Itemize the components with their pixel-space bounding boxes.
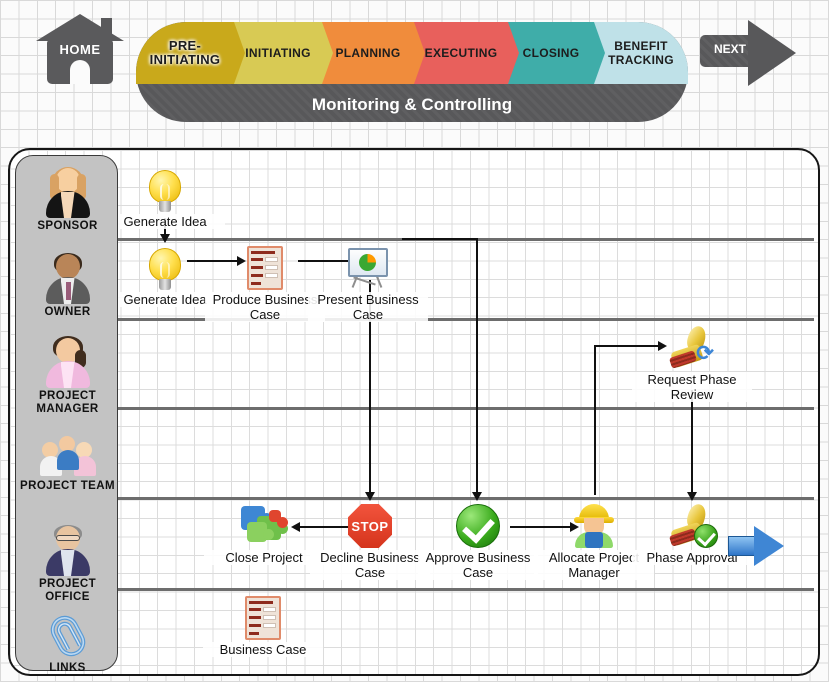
phase-tab-initiating[interactable]: INITIATING: [234, 22, 322, 84]
swimlane-canvas: SPONSOR OWNER: [8, 148, 820, 676]
project-office-avatar-icon: [42, 526, 94, 576]
lightbulb-icon: [149, 248, 181, 290]
puzzle-icon: [241, 506, 287, 548]
arrowhead-down: [160, 234, 170, 243]
sidebar-item-label: PROJECT OFFICE: [16, 578, 119, 604]
connector-allocate-up: [594, 345, 596, 495]
phase-tab-label: INITIATING: [245, 46, 310, 60]
next-label: NEXT: [706, 42, 754, 56]
green-check-badge-icon: [694, 524, 718, 548]
phase-chevron-icon: [594, 22, 605, 84]
arrowhead-down: [687, 492, 697, 501]
node-label: Present Business Case: [308, 292, 428, 322]
sidebar-item-owner[interactable]: OWNER: [16, 254, 119, 319]
node-label: Close Project: [204, 550, 324, 565]
phase-tab-label: PRE-INITIATING: [140, 39, 230, 67]
node-approve-business-case[interactable]: Approve Business Case: [418, 504, 538, 580]
stamp-approved-icon: [668, 504, 716, 548]
recycle-arrows-icon: ⟳: [694, 343, 716, 365]
node-produce-business-case[interactable]: Produce Business Case: [205, 246, 325, 322]
phase-tab-label: BENEFIT TRACKING: [598, 39, 684, 67]
sidebar-item-project-team[interactable]: PROJECT TEAM: [16, 434, 119, 493]
lightbulb-icon: [149, 170, 181, 212]
monitoring-controlling-label: Monitoring & Controlling: [136, 95, 688, 115]
sponsor-avatar-icon: [42, 168, 94, 218]
node-label: Produce Business Case: [205, 292, 325, 322]
phase-pipeline: Monitoring & Controlling PRE-INITIATINGI…: [136, 22, 688, 122]
lane-divider-pm-team: [118, 407, 814, 410]
phase-tab-pre-initiating[interactable]: PRE-INITIATING: [136, 22, 234, 84]
sidebar-item-label: OWNER: [16, 306, 119, 319]
stamp-recycle-icon: ⟳: [668, 326, 716, 370]
phase-navigation-bar: HOME Monitoring & Controlling PRE-INITIA…: [0, 0, 829, 140]
home-door-icon: [70, 60, 90, 84]
presentation-icon: [346, 246, 390, 290]
phase-tab-planning[interactable]: PLANNING: [322, 22, 414, 84]
phase-chevron-icon: [234, 22, 245, 84]
sidebar-item-links[interactable]: LINKS: [16, 614, 119, 675]
node-present-business-case[interactable]: Present Business Case: [308, 246, 428, 322]
glasses-icon: [56, 535, 80, 541]
lane-divider-team-office: [118, 497, 814, 500]
green-check-icon: [456, 504, 500, 548]
node-label: Approve Business Case: [418, 550, 538, 580]
stop-sign-icon: STOP: [348, 504, 392, 548]
home-button[interactable]: HOME: [36, 14, 124, 84]
node-request-phase-review[interactable]: ⟳ Request Phase Review: [632, 326, 752, 402]
phase-tab-label: CLOSING: [523, 46, 580, 60]
sidebar-item-project-office[interactable]: PROJECT OFFICE: [16, 526, 119, 604]
worker-icon: [571, 504, 617, 548]
paperclip-icon: [42, 614, 94, 660]
next-arrow-head-icon: [748, 20, 796, 86]
project-team-avatar-icon: [40, 434, 96, 478]
blue-arrow-head-icon: [754, 526, 784, 566]
project-manager-avatar-icon: [42, 338, 94, 388]
phase-tab-label: PLANNING: [335, 46, 400, 60]
next-phase-arrow-button[interactable]: [728, 526, 784, 566]
node-decline-business-case[interactable]: STOP Decline Business Case: [310, 504, 430, 580]
owner-tie-icon: [66, 282, 71, 300]
sidebar-item-label: LINKS: [16, 662, 119, 675]
connector-present-top-to-approve: [402, 238, 478, 240]
arrowhead-down: [365, 492, 375, 501]
node-label: Request Phase Review: [632, 372, 752, 402]
lane-divider-office-links: [118, 588, 814, 591]
owner-avatar-icon: [42, 254, 94, 304]
phase-tab-label: EXECUTING: [425, 46, 498, 60]
sidebar-item-label: PROJECT TEAM: [16, 480, 119, 493]
phase-tab-closing[interactable]: CLOSING: [508, 22, 594, 84]
home-label: HOME: [36, 42, 124, 57]
phase-chevron-icon: [414, 22, 425, 84]
document-icon: [245, 596, 281, 640]
next-button[interactable]: NEXT: [700, 20, 796, 86]
sidebar-item-project-manager[interactable]: PROJECT MANAGER: [16, 338, 119, 416]
phase-tab-benefit-tracking[interactable]: BENEFIT TRACKING: [594, 22, 688, 84]
home-chimney-icon: [101, 18, 112, 40]
arrowhead-down: [472, 492, 482, 501]
phase-tab-executing[interactable]: EXECUTING: [414, 22, 508, 84]
node-close-project[interactable]: Close Project: [204, 504, 324, 565]
connector-approve-down: [476, 238, 478, 495]
sidebar-item-sponsor[interactable]: SPONSOR: [16, 168, 119, 233]
node-label: Business Case: [203, 642, 323, 657]
node-business-case-link[interactable]: Business Case: [203, 596, 323, 657]
role-sidebar: SPONSOR OWNER: [15, 155, 118, 671]
connector-review-to-approval: [691, 390, 693, 496]
stop-sign-text: STOP: [351, 519, 388, 534]
phase-chevron-list: PRE-INITIATINGINITIATINGPLANNINGEXECUTIN…: [136, 22, 688, 84]
node-generate-idea-sponsor[interactable]: Generate Idea: [105, 168, 225, 229]
sidebar-item-label: SPONSOR: [16, 220, 119, 233]
node-label: Decline Business Case: [310, 550, 430, 580]
document-icon: [247, 246, 283, 290]
sidebar-item-label: PROJECT MANAGER: [16, 390, 119, 416]
process-flow-page: HOME Monitoring & Controlling PRE-INITIA…: [0, 0, 829, 682]
phase-chevron-icon: [322, 22, 333, 84]
phase-chevron-icon: [508, 22, 519, 84]
node-label: Generate Idea: [105, 214, 225, 229]
